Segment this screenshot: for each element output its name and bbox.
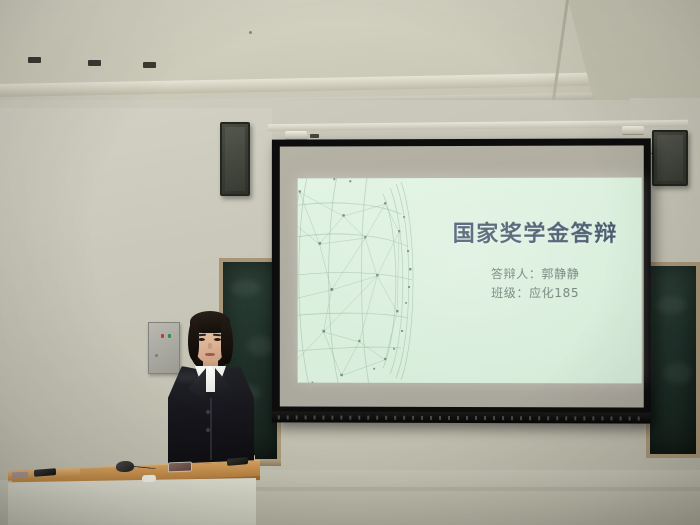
- white-cable: [142, 475, 156, 482]
- wall-speaker-right: [652, 130, 688, 186]
- shoulder-highlight: [174, 372, 200, 382]
- ceiling-dot-mark: [249, 31, 252, 34]
- screen-bar-texture: [278, 415, 645, 420]
- eye-right: [214, 338, 221, 341]
- slide-subtitle: 答辩人：郭静静 班级：应化185: [437, 265, 634, 303]
- network-globe-graphic: [298, 178, 419, 384]
- podium-side-panel: [0, 480, 8, 525]
- card-on-podium: [12, 472, 28, 479]
- nose: [208, 343, 212, 349]
- ceiling-fixture-icon: [88, 60, 101, 66]
- wall-speaker-left: [220, 122, 250, 196]
- jacket-center-seam: [210, 398, 212, 460]
- chalkboard-right: [646, 262, 700, 458]
- eye-left: [198, 338, 205, 341]
- classroom-photo-scene: 国家奖学金答辩 答辩人：郭静静 班级：应化185: [0, 0, 700, 525]
- ceiling-fixture-icon: [28, 57, 41, 63]
- projector-screen: 国家奖学金答辩 答辩人：郭静静 班级：应化185: [272, 138, 651, 423]
- projector-screen-surface: 国家奖学金答辩 答辩人：郭静静 班级：应化185: [280, 145, 644, 407]
- rail-fixture-icon: [310, 134, 319, 138]
- screen-mount-bracket: [622, 126, 644, 135]
- projected-slide: 国家奖学金答辩 答辩人：郭静静 班级：应化185: [298, 178, 642, 384]
- jacket-button: [206, 410, 210, 414]
- speaker-grille-icon: [657, 135, 683, 181]
- mobile-phone: [168, 462, 192, 473]
- chalk-smudge: [664, 362, 692, 384]
- podium-front-panel: [0, 478, 256, 525]
- presenter: [162, 312, 258, 472]
- jacket-button: [206, 428, 210, 432]
- slide-text-block: 国家奖学金答辩 答辩人：郭静静 班级：应化185: [437, 216, 634, 303]
- panel-screw-icon: [155, 354, 158, 357]
- chalk-smudge: [656, 296, 686, 314]
- slide-presenter-line: 答辩人：郭静静: [437, 265, 634, 284]
- chalk-smudge: [231, 280, 261, 296]
- ceiling-fixture-icon: [143, 62, 156, 68]
- speaker-grille-icon: [225, 127, 245, 191]
- lectern-podium: [0, 458, 262, 525]
- slide-class-line: 班级：应化185: [437, 284, 634, 303]
- screen-weight-bar: [272, 411, 651, 423]
- floor-baseboard-line: [240, 487, 700, 491]
- slide-title: 国家奖学金答辩: [437, 216, 634, 248]
- hair-side-right: [221, 320, 233, 364]
- mouth: [205, 353, 215, 356]
